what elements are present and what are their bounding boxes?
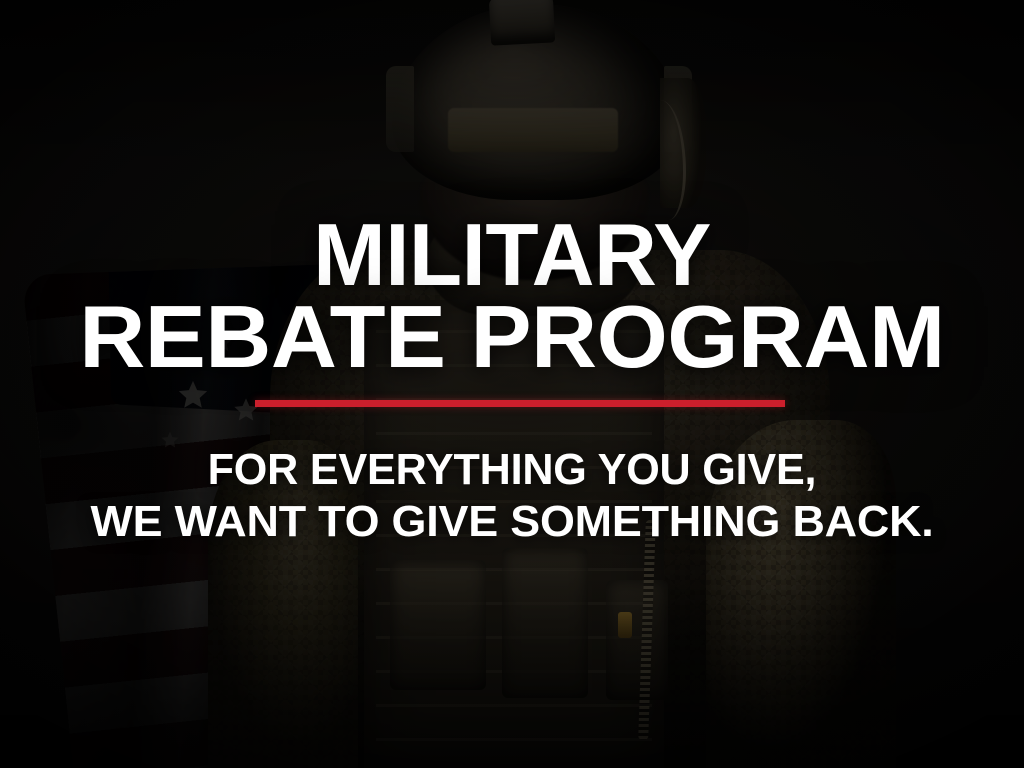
vignette	[0, 0, 1024, 768]
military-rebate-program-slide: MILITARY REBATE PROGRAM FOR EVERYTHING Y…	[0, 0, 1024, 768]
soldier-photo-background	[0, 0, 1024, 768]
